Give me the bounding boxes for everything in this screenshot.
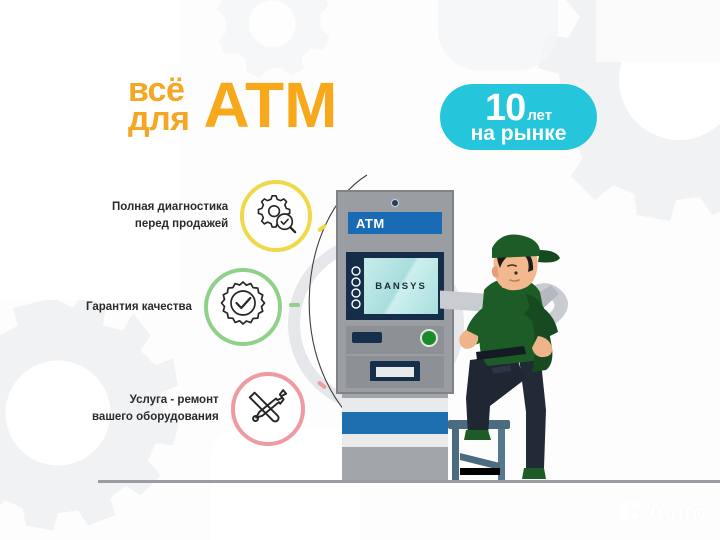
feature-item-diagnostics: Полная диагностика перед продажей <box>112 180 312 252</box>
quality-seal-check-icon <box>218 280 268 335</box>
feature-icon-ring-diagnostics <box>240 180 312 252</box>
feature-item-repair: Услуга - ремонт вашего оборудования <box>92 372 305 446</box>
years-badge: 10 лет на рынке <box>440 84 597 150</box>
screwdriver-wrench-icon <box>245 384 291 435</box>
feature-icon-ring-quality <box>204 268 282 346</box>
atm-screen-label: BANSYS <box>375 281 427 292</box>
ground-line <box>98 480 720 483</box>
atm-machine: ATM BANSYS <box>336 190 454 482</box>
atm-sign-label: ATM <box>356 216 385 231</box>
avito-watermark: Avito <box>618 499 706 528</box>
atm-softkeys[interactable] <box>350 266 362 315</box>
background-panel-a <box>596 0 720 62</box>
headline-small-stack: всё для <box>128 76 190 134</box>
technician-illustration <box>440 232 612 484</box>
gear-magnifier-icon <box>253 191 299 242</box>
badge-subtitle: на рынке <box>471 123 567 145</box>
atm-camera-icon <box>391 199 399 207</box>
badge-number-row: 10 лет <box>485 91 552 125</box>
atm-cash-notes <box>376 367 414 377</box>
feature-icon-ring-repair <box>231 372 305 446</box>
feature-label-diagnostics: Полная диагностика перед продажей <box>112 199 228 232</box>
feature-item-quality: Гарантия качества <box>86 268 282 346</box>
atm-card-slot[interactable] <box>352 332 382 343</box>
atm-lower-band-top <box>342 398 448 412</box>
background-panel-d <box>438 0 558 70</box>
atm-screen: BANSYS <box>364 258 438 314</box>
badge-number: 10 <box>485 91 525 125</box>
poster-canvas: всё для ATM 10 лет на рынке Полная диагн… <box>0 0 720 540</box>
atm-blue-stripe <box>342 412 448 434</box>
feature-label-quality: Гарантия качества <box>86 299 192 316</box>
avito-label: Avito <box>647 499 706 528</box>
atm-sign: ATM <box>348 212 442 234</box>
headline-main: ATM <box>204 76 338 135</box>
feature-label-repair: Услуга - ремонт вашего оборудования <box>92 392 219 425</box>
atm-green-button[interactable] <box>420 329 438 347</box>
background-panel-b <box>0 0 180 300</box>
headline-line2: для <box>128 105 190 134</box>
headline-block: всё для ATM <box>128 76 337 135</box>
atm-lower-band-bottom <box>342 434 448 447</box>
avito-dots-icon <box>618 499 644 528</box>
